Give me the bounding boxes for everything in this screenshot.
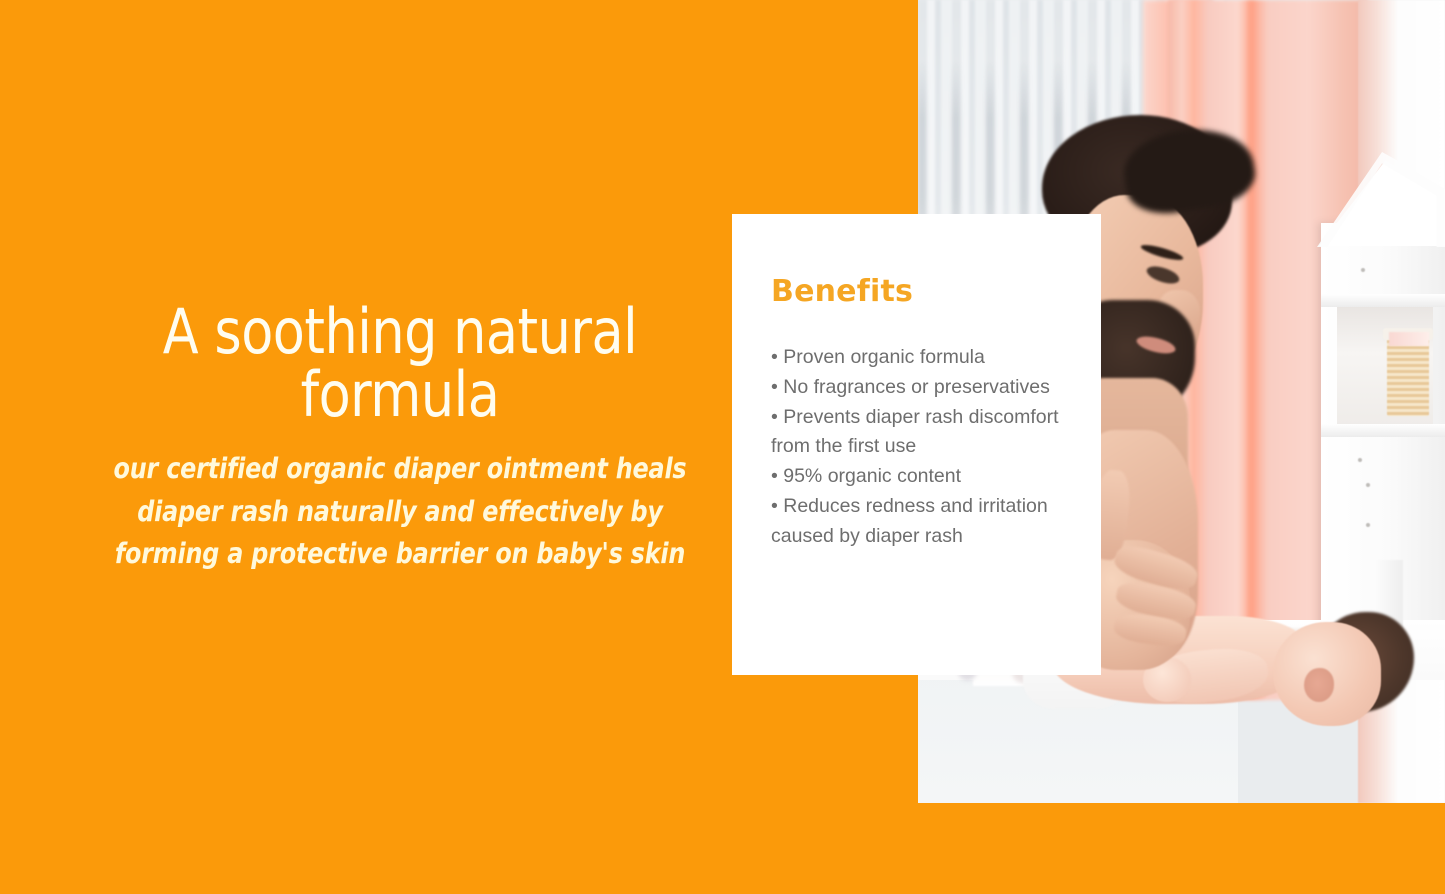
shelf-screw-2: [1358, 458, 1362, 462]
benefits-title: Benefits: [771, 274, 1061, 309]
shelf-divider-top: [1321, 294, 1445, 307]
benefits-card: Benefits • Proven organic formula • No f…: [732, 214, 1101, 675]
shelf-roof: [1319, 156, 1445, 246]
pink-curtain-glow: [1248, 0, 1258, 660]
shelf-screw-3: [1366, 483, 1370, 487]
benefits-card-inner: Benefits • Proven organic formula • No f…: [732, 214, 1101, 552]
baby-ear: [1304, 668, 1334, 702]
shelf-divider-bottom: [1321, 424, 1445, 437]
benefits-list: • Proven organic formula • No fragrances…: [771, 343, 1061, 552]
list-item: • 95% organic content: [771, 462, 1061, 492]
shelf-screw-1: [1361, 268, 1365, 272]
page-subtitle: our certified organic diaper ointment he…: [84, 448, 716, 575]
orange-bottom-band: [0, 803, 1445, 894]
page-title: A soothing natural formula: [80, 300, 719, 426]
house-shelf: [1303, 128, 1445, 628]
list-item: • Proven organic formula: [771, 343, 1061, 373]
list-item: • Prevents diaper rash discomfort from t…: [771, 403, 1061, 463]
basket-cloth: [1389, 332, 1429, 346]
list-item: • No fragrances or preservatives: [771, 373, 1061, 403]
wicker-basket: [1387, 334, 1429, 416]
headline-block: A soothing natural formula our certified…: [60, 300, 740, 575]
shelf-screw-4: [1366, 523, 1370, 527]
list-item: • Reduces redness and irritation caused …: [771, 492, 1061, 552]
slide-root: A soothing natural formula our certified…: [0, 0, 1445, 894]
